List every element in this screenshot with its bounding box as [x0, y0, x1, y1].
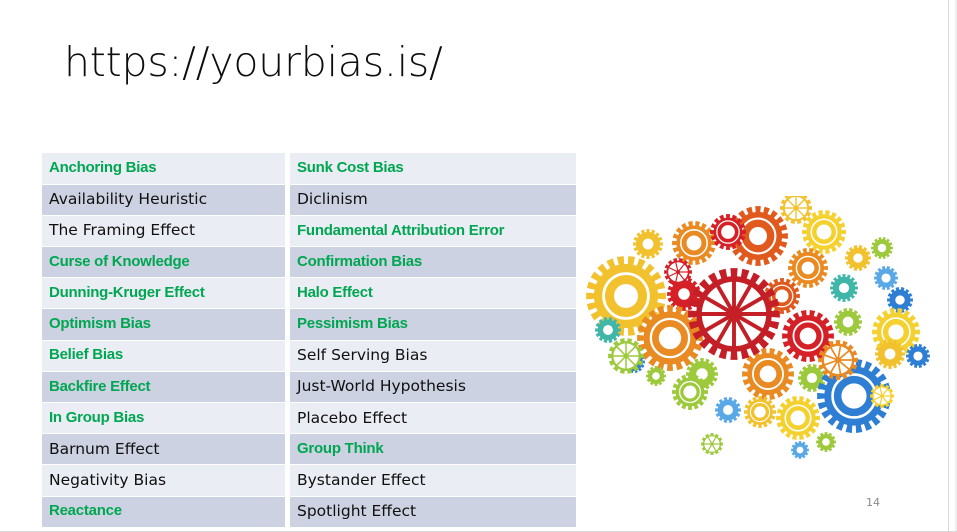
gear-icon: [595, 317, 621, 343]
table-row: Belief BiasSelf Serving Bias: [42, 340, 576, 371]
gear-brain-illustration: [586, 196, 934, 464]
gear-icon: [834, 308, 862, 336]
bias-cell-left: Backfire Effect: [42, 371, 288, 402]
bias-cell-right: Sunk Cost Bias: [288, 153, 577, 184]
gear-icon: [788, 248, 828, 288]
gear-icon: [608, 338, 644, 374]
slide-canvas: https://yourbias.is/ Anchoring BiasSunk …: [0, 0, 957, 532]
bias-cell-right: Placebo Effect: [288, 403, 577, 434]
table-row: Barnum EffectGroup Think: [42, 434, 576, 465]
bias-cell-right: Pessimism Bias: [288, 309, 577, 340]
bias-cell-left: The Framing Effect: [42, 215, 288, 246]
gear-icon: [791, 441, 809, 459]
bias-cell-left: Negativity Bias: [42, 465, 288, 496]
gear-icon: [701, 433, 723, 455]
gear-icon: [818, 340, 858, 380]
bias-cell-right: Spotlight Effect: [288, 496, 577, 527]
slide-right-border: [948, 0, 949, 532]
gear-icon: [906, 344, 930, 368]
bias-cell-left: Optimism Bias: [42, 309, 288, 340]
gear-icon: [710, 214, 746, 250]
gear-icon: [633, 229, 663, 259]
gear-icon: [830, 274, 858, 302]
bias-cell-left: Reactance: [42, 496, 288, 527]
bias-cell-right: Halo Effect: [288, 278, 577, 309]
gear-icon: [672, 374, 708, 410]
bias-cell-left: Barnum Effect: [42, 434, 288, 465]
bias-cell-right: Self Serving Bias: [288, 340, 577, 371]
gear-icon: [816, 432, 836, 452]
table-row: Backfire EffectJust-World Hypothesis: [42, 371, 576, 402]
bias-cell-left: Availability Heuristic: [42, 184, 288, 215]
gear-icon: [744, 396, 776, 428]
bias-cell-left: Belief Bias: [42, 340, 288, 371]
table-row: Anchoring BiasSunk Cost Bias: [42, 153, 576, 184]
gear-icon: [742, 348, 794, 400]
table-row: The Framing EffectFundamental Attributio…: [42, 215, 576, 246]
table-row: Negativity BiasBystander Effect: [42, 465, 576, 496]
gear-icon: [664, 258, 692, 286]
bias-cell-right: Group Think: [288, 434, 577, 465]
bias-cell-right: Confirmation Bias: [288, 247, 577, 278]
bias-cell-right: Diclinism: [288, 184, 577, 215]
bias-cell-right: Just-World Hypothesis: [288, 371, 577, 402]
bias-cell-right: Bystander Effect: [288, 465, 577, 496]
bias-cell-left: Anchoring Bias: [42, 153, 288, 184]
table-row: In Group BiasPlacebo Effect: [42, 403, 576, 434]
bias-cell-left: Curse of Knowledge: [42, 247, 288, 278]
gear-icon: [875, 339, 905, 369]
gear-icon: [871, 237, 893, 259]
gear-icon: [688, 268, 780, 360]
bias-table-body: Anchoring BiasSunk Cost BiasAvailability…: [42, 153, 576, 527]
table-row: Dunning-Kruger EffectHalo Effect: [42, 278, 576, 309]
bias-cell-right: Fundamental Attribution Error: [288, 215, 577, 246]
gear-icon: [672, 221, 716, 265]
gear-icon: [874, 266, 898, 290]
gear-icon: [715, 397, 741, 423]
bias-cell-left: Dunning-Kruger Effect: [42, 278, 288, 309]
gear-icon: [776, 396, 820, 440]
page-number: 14: [866, 496, 880, 509]
table-row: ReactanceSpotlight Effect: [42, 496, 576, 527]
table-row: Availability HeuristicDiclinism: [42, 184, 576, 215]
bias-cell-left: In Group Bias: [42, 403, 288, 434]
table-row: Curse of KnowledgeConfirmation Bias: [42, 247, 576, 278]
bias-table: Anchoring BiasSunk Cost BiasAvailability…: [42, 153, 576, 528]
gear-icon: [845, 245, 871, 271]
table-row: Optimism BiasPessimism Bias: [42, 309, 576, 340]
gear-icon: [802, 210, 846, 254]
page-title: https://yourbias.is/: [64, 38, 443, 87]
